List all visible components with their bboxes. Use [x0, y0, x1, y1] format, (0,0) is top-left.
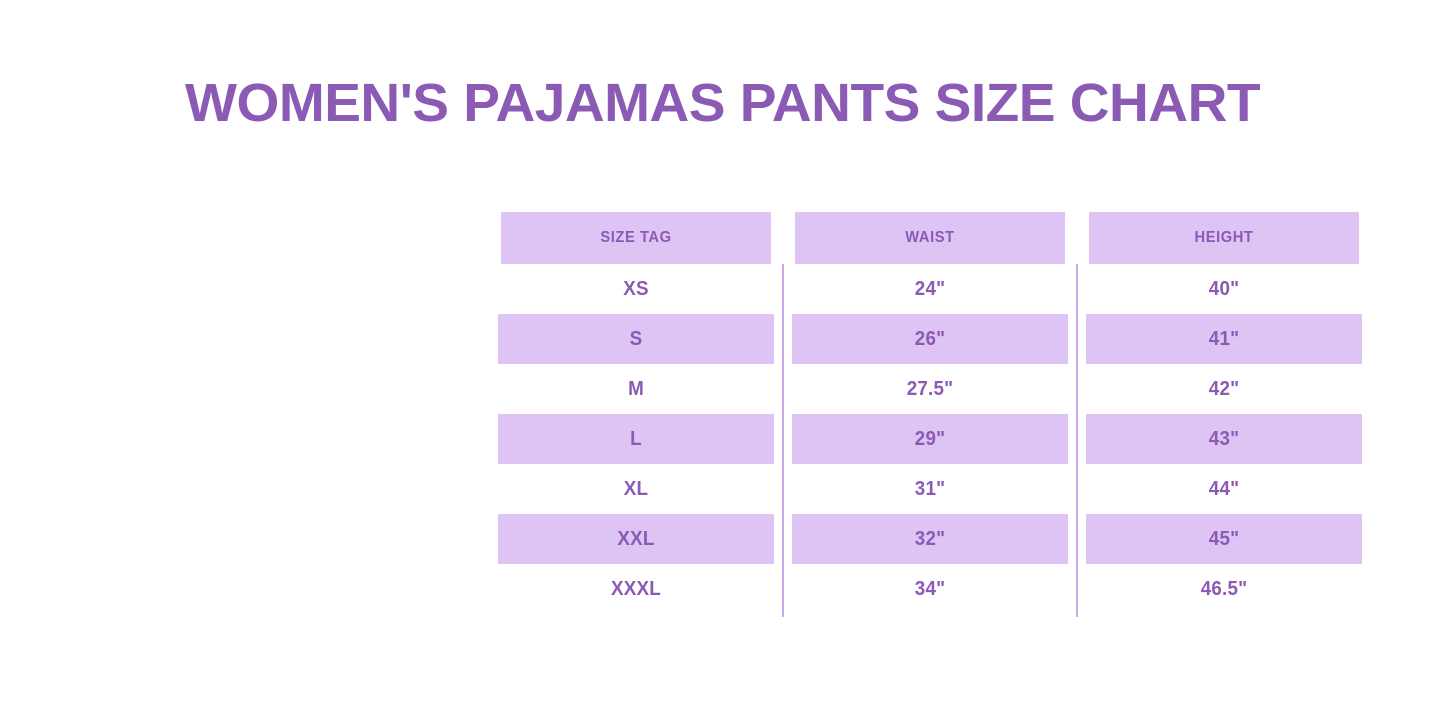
column-header-size-tag: SIZE TAG — [501, 212, 771, 264]
table-row: XXL 32" 45" — [489, 514, 1371, 564]
cell-height: 43" — [1086, 414, 1362, 464]
cell-height: 44" — [1086, 464, 1362, 514]
table-row: XS 24" 40" — [489, 264, 1371, 314]
size-chart-table: SIZE TAG WAIST HEIGHT XS 24" 40" S 26" 4… — [489, 212, 1371, 614]
cell-waist: 29" — [792, 414, 1068, 464]
table-row: S 26" 41" — [489, 314, 1371, 364]
cell-size-tag: XXXL — [498, 564, 774, 614]
cell-size-tag: L — [498, 414, 774, 464]
size-chart-table-container: SIZE TAG WAIST HEIGHT XS 24" 40" S 26" 4… — [489, 212, 1371, 614]
cell-waist: 26" — [792, 314, 1068, 364]
cell-waist: 24" — [792, 264, 1068, 314]
size-chart-page: WOMEN'S PAJAMAS PANTS SIZE CHART SIZE TA… — [0, 0, 1445, 723]
column-header-waist: WAIST — [795, 212, 1065, 264]
table-row: M 27.5" 42" — [489, 364, 1371, 414]
cell-waist: 31" — [792, 464, 1068, 514]
table-header-row: SIZE TAG WAIST HEIGHT — [489, 212, 1371, 264]
cell-size-tag: XS — [498, 264, 774, 314]
cell-height: 46.5" — [1086, 564, 1362, 614]
cell-height: 40" — [1086, 264, 1362, 314]
table-row: XXXL 34" 46.5" — [489, 564, 1371, 614]
cell-height: 41" — [1086, 314, 1362, 364]
table-row: L 29" 43" — [489, 414, 1371, 464]
cell-waist: 34" — [792, 564, 1068, 614]
table-row: XL 31" 44" — [489, 464, 1371, 514]
cell-size-tag: S — [498, 314, 774, 364]
cell-waist: 32" — [792, 514, 1068, 564]
cell-size-tag: XXL — [498, 514, 774, 564]
cell-size-tag: XL — [498, 464, 774, 514]
cell-height: 45" — [1086, 514, 1362, 564]
cell-height: 42" — [1086, 364, 1362, 414]
page-title: WOMEN'S PAJAMAS PANTS SIZE CHART — [0, 70, 1445, 136]
column-header-height: HEIGHT — [1089, 212, 1359, 264]
cell-size-tag: M — [498, 364, 774, 414]
cell-waist: 27.5" — [792, 364, 1068, 414]
